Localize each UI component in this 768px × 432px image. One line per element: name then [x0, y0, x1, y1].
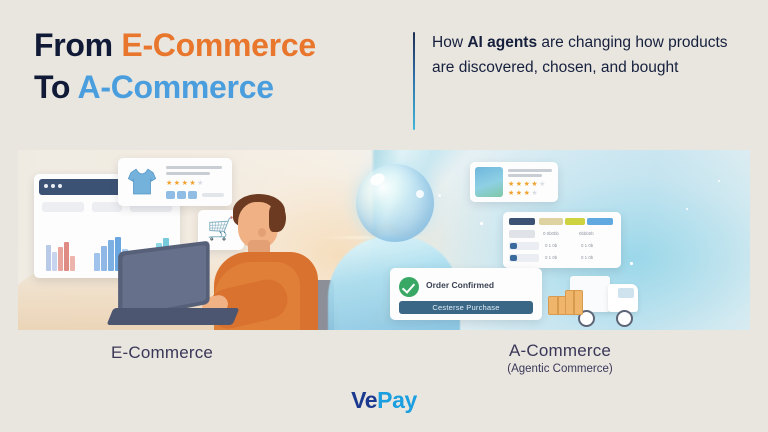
chart-bar — [58, 247, 63, 271]
sparkle-dot — [686, 208, 688, 210]
star-icon: ★ — [516, 181, 522, 188]
star-icon: ★ — [524, 181, 530, 188]
slide-canvas: From E-Commerce To A-Commerce How AI age… — [0, 0, 768, 432]
header: From E-Commerce To A-Commerce How AI age… — [0, 24, 768, 136]
logo-part-pay: Pay — [377, 387, 417, 413]
chart-bar — [52, 252, 57, 271]
star-icon: ★ — [166, 180, 172, 187]
card-text-line — [166, 172, 210, 175]
caption-right-label: A-Commerce — [452, 341, 668, 361]
table-header-chip — [539, 218, 563, 225]
star-icon: ★ — [189, 180, 195, 187]
star-icon: ★ — [508, 190, 514, 197]
caption-right: A-Commerce (Agentic Commerce) — [452, 341, 668, 375]
chart-bar — [94, 253, 100, 271]
tshirt-icon — [125, 164, 159, 200]
star-rating: ★ ★ ★ ★ ★ — [508, 181, 545, 188]
chart-bar — [46, 245, 51, 271]
table-cell-text: 0 0b0bb — [543, 230, 559, 238]
browser-dot — [44, 184, 48, 188]
illustration-panel: ★ ★ ★ ★ ★ 🛒 — [18, 150, 750, 330]
star-rating-secondary: ★ ★ ★ ★ — [508, 190, 538, 197]
browser-filter-pill[interactable] — [42, 202, 84, 212]
order-confirmed-title: Order Confirmed — [426, 280, 494, 290]
laptop-base — [107, 308, 240, 325]
truck-window — [618, 288, 634, 298]
hair-back — [269, 204, 286, 232]
laptop-screen — [122, 245, 206, 316]
browser-dot — [58, 184, 62, 188]
complete-purchase-button[interactable]: Cesterse Purchase — [399, 301, 533, 314]
truck-wheel — [616, 310, 633, 327]
caption-right-sublabel: (Agentic Commerce) — [452, 363, 668, 375]
caption-left: E-Commerce — [62, 343, 262, 363]
card-text-line — [508, 174, 542, 177]
star-icon: ★ — [516, 190, 522, 197]
table-header-chip — [509, 218, 535, 225]
card-swatch — [177, 191, 186, 199]
chart-bar — [70, 256, 75, 271]
star-icon: ★ — [508, 181, 514, 188]
card-swatch — [188, 191, 197, 199]
page-title: From E-Commerce To A-Commerce — [34, 24, 404, 108]
laptop — [110, 246, 238, 330]
table-cell-accent — [510, 255, 517, 261]
order-confirmed-card: Order Confirmed Cesterse Purchase — [390, 268, 542, 320]
subtitle: How AI agents are changing how products … — [432, 30, 742, 80]
table-cell-text: 0 1 0b — [581, 242, 593, 250]
logo-part-ve: Ve — [351, 387, 377, 413]
product-thumbnail — [475, 167, 503, 197]
check-circle-icon — [399, 277, 419, 297]
browser-filter-pill[interactable] — [92, 202, 122, 212]
ear — [258, 228, 266, 237]
ai-product-card: ★ ★ ★ ★ ★ ★ ★ ★ ★ — [470, 162, 558, 202]
headline-line1-prefix: From — [34, 27, 121, 63]
headline-line-1: From E-Commerce — [34, 24, 404, 66]
star-rating: ★ ★ ★ ★ ★ — [166, 180, 203, 187]
star-icon: ★ — [531, 190, 537, 197]
table-cell-text: 0 1 0b — [545, 242, 557, 250]
star-icon: ★ — [182, 180, 188, 187]
card-text-line — [508, 169, 552, 172]
table-cell-text: 0 1 0b — [581, 254, 593, 262]
avatar-highlight — [416, 190, 424, 198]
star-icon: ★ — [174, 180, 180, 187]
star-icon: ★ — [531, 181, 537, 188]
subtitle-part1: How — [432, 34, 467, 51]
package-box — [565, 290, 583, 315]
table-header-chip — [565, 218, 585, 225]
header-divider-rule — [413, 32, 415, 130]
vepay-logo[interactable]: VePay — [0, 387, 768, 414]
browser-dot — [51, 184, 55, 188]
card-text-line — [166, 166, 222, 169]
headline-accent-ecommerce: E-Commerce — [121, 27, 315, 63]
chart-bar — [101, 246, 107, 271]
table-cell — [509, 230, 535, 238]
headline-line-2: To A-Commerce — [34, 66, 404, 108]
subtitle-bold-ai-agents: AI agents — [467, 34, 537, 51]
table-cell-text: 0 1 0b — [545, 254, 557, 262]
card-swatch — [166, 191, 175, 199]
star-icon: ★ — [524, 190, 530, 197]
sparkle-dot — [718, 180, 720, 182]
table-cell-text: 0bbb0b — [579, 230, 594, 238]
star-icon: ★ — [539, 181, 545, 188]
caption-left-label: E-Commerce — [62, 343, 262, 363]
headline-accent-acommerce: A-Commerce — [78, 69, 274, 105]
delivery-truck — [548, 270, 646, 326]
avatar-sphere-head — [356, 164, 434, 242]
product-comparison-table: 0 0b0bb 0bbb0b 0 1 0b 0 1 0b 0 1 0b 0 1 … — [503, 212, 621, 268]
chart-bar — [64, 242, 69, 271]
table-header-chip — [587, 218, 613, 225]
sparkle-dot — [480, 222, 483, 225]
sparkle-dot — [630, 262, 633, 265]
table-cell-accent — [510, 243, 517, 249]
star-icon: ★ — [197, 180, 203, 187]
headline-line2-prefix: To — [34, 69, 78, 105]
